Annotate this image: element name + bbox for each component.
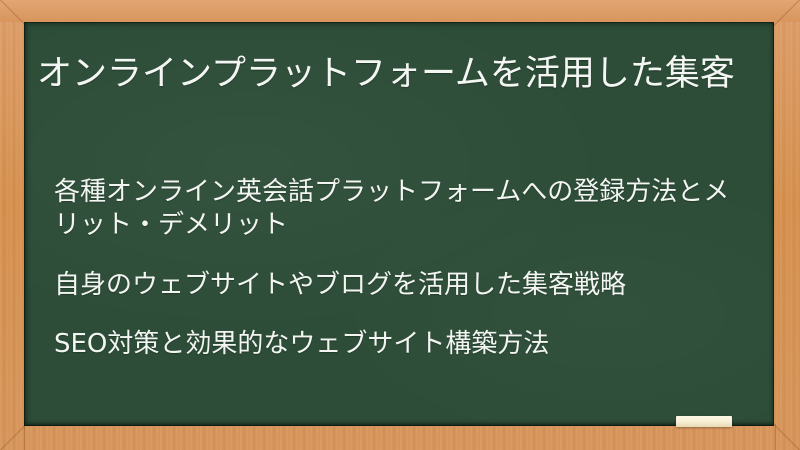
- bullet-item-3: SEO対策と効果的なウェブサイト構築方法: [54, 328, 754, 361]
- slide-bullet-list: 各種オンライン英会話プラットフォームへの登録方法とメリット・デメリット 自身のウ…: [54, 150, 754, 361]
- chalkboard-surface: オンラインプラットフォームを活用した集客 各種オンライン英会話プラットフォームへ…: [24, 22, 774, 426]
- bullet-item-2: 自身のウェブサイトやブログを活用した集客戦略: [54, 269, 754, 302]
- chalk-stick-icon: [676, 416, 732, 427]
- chalk-ledge-seam-right: [775, 424, 776, 450]
- bullet-item-1: 各種オンライン英会話プラットフォームへの登録方法とメリット・デメリット: [54, 176, 754, 243]
- frame-top-rail: [0, 0, 800, 22]
- slide-title: オンラインプラットフォームを活用した集客: [37, 53, 753, 95]
- chalk-ledge-seam-left: [24, 424, 25, 450]
- chalkboard-slide: オンラインプラットフォームを活用した集客 各種オンライン英会話プラットフォームへ…: [0, 0, 800, 450]
